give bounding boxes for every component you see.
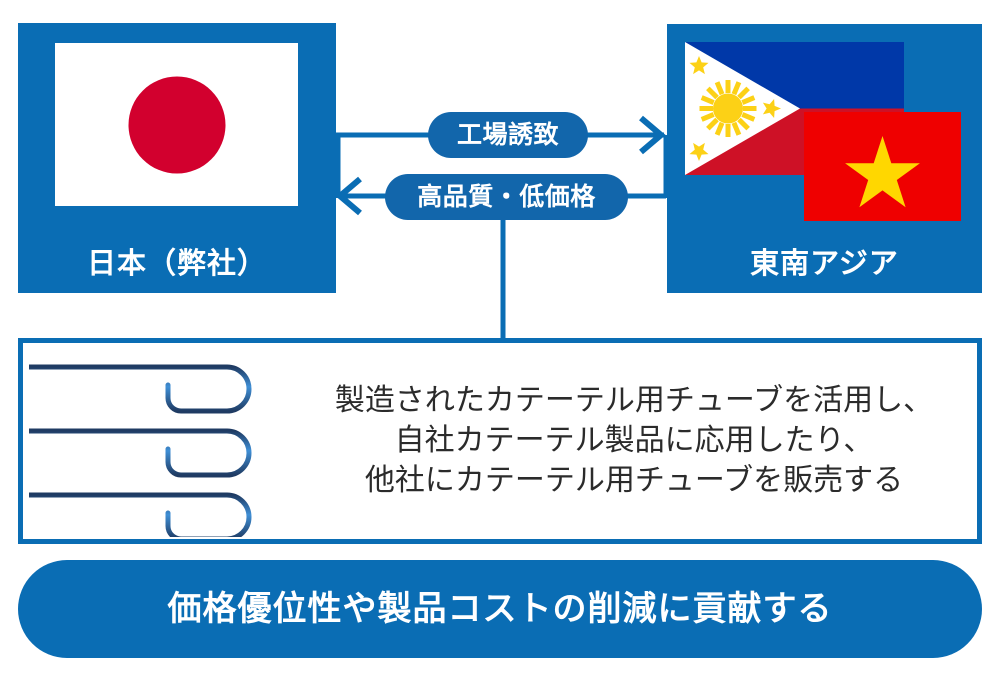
region-box-japan: 日本（弊社） [18,23,336,293]
flow-label-quality-price[interactable]: 高品質・低価格 [385,174,628,220]
description-card: 製造されたカテーテル用チューブを活用し、 自社カテーテル製品に応用したり、 他社… [18,338,982,544]
description-line-2: 自社カテーテル製品に応用したり、 [299,421,969,461]
catheter-tube-3 [29,495,249,537]
region-label-southeast-asia: 東南アジア [667,250,982,279]
catheter-tube-2 [29,431,249,475]
conclusion-text: 価格優位性や製品コストの削減に貢献する [168,592,833,626]
catheter-tube-illustration [29,349,291,537]
japan-flag [55,43,298,206]
right-arrow-icon [641,118,661,152]
vietnam-flag [804,112,961,221]
flow-label-factory-invitation[interactable]: 工場誘致 [428,112,588,158]
catheter-tube-1 [29,367,249,411]
conclusion-banner: 価格優位性や製品コストの削減に貢献する [18,560,982,658]
description-line-1: 製造されたカテーテル用チューブを活用し、 [299,381,969,421]
diagram-canvas: 日本（弊社） [0,0,1000,677]
description-line-3: 他社にカテーテル用チューブを販売する [299,461,969,501]
left-arrow-icon [340,179,360,213]
description-text: 製造されたカテーテル用チューブを活用し、 自社カテーテル製品に応用したり、 他社… [299,381,969,501]
region-box-southeast-asia: 東南アジア [667,24,982,293]
region-label-japan: 日本（弊社） [18,250,336,279]
japan-flag-sun-disc [128,76,225,173]
